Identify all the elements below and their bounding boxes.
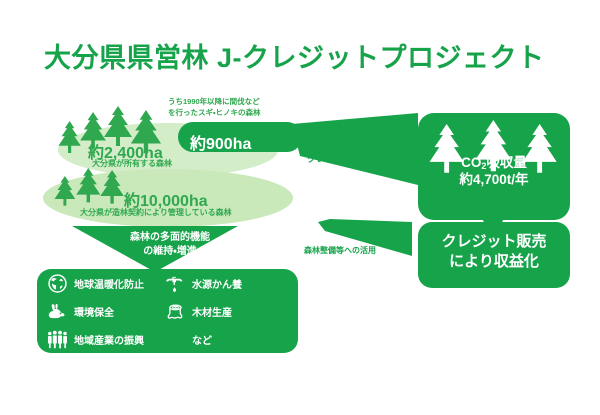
benefits-panel: 地球温暖化防止 水源かん養 環境保全 — [37, 269, 298, 353]
people-group-icon — [47, 329, 68, 350]
multifunction-arrow-caption: 森林の多面的機能 の維持・増進 — [105, 231, 235, 259]
benefit-label: 地域産業の振興 — [74, 332, 144, 347]
benefit-label: 木材生産 — [192, 304, 232, 319]
benefit-item-water-source: 水源かん養 — [155, 273, 298, 294]
certified-callout-line1: うち1990年以降に間伐など — [168, 97, 261, 108]
certified-forest-callout: うち1990年以降に間伐など を行ったスギ・ヒノキの森林 — [168, 97, 261, 119]
co2-box-text: CO2吸収量 約4,700t/年 — [420, 155, 568, 189]
managed-forest-description: 大分県が造林契約により管理している森林 — [80, 207, 232, 218]
globe-icon — [47, 273, 68, 294]
benefit-item-global-warming: 地球温暖化防止 — [37, 273, 155, 294]
tree-cluster-lower — [55, 168, 124, 206]
benefit-label: 環境保全 — [74, 304, 114, 319]
sales-line1: クレジット販売 — [420, 232, 568, 252]
certified-callout-line2: を行ったスギ・ヒノキの森林 — [168, 108, 261, 119]
faucet-icon — [165, 273, 186, 294]
benefit-item-etc: など — [155, 332, 298, 347]
benefit-item-local-industry: 地域産業の振興 — [37, 329, 155, 350]
sales-box-text: クレジット販売 により収益化 — [420, 232, 568, 271]
certification-arrow — [292, 113, 418, 185]
multifunction-line1: 森林の多面的機能 — [105, 231, 235, 245]
benefit-label: 地球温暖化防止 — [74, 276, 144, 291]
utilization-label: 森林整備等への活用 — [304, 245, 376, 256]
certified-forest-amount: 約900ha — [190, 130, 251, 154]
co2-absorption-label: CO2吸収量 — [420, 155, 568, 172]
multifunction-line2: の維持・増進 — [105, 245, 235, 259]
certification-label: クレジット認証 — [307, 152, 370, 165]
benefit-item-timber: 木材生産 — [155, 301, 298, 322]
sales-line2: により収益化 — [420, 252, 568, 272]
co2-absorption-value: 約4,700t/年 — [420, 172, 568, 189]
owned-forest-description: 大分県が所有する森林 — [92, 158, 172, 169]
infographic-canvas: 大分県県営林 J-クレジットプロジェクト — [0, 0, 600, 415]
benefit-label: 水源かん養 — [192, 276, 242, 291]
tree-stump-icon — [165, 301, 186, 322]
benefit-label: など — [192, 332, 212, 347]
rabbit-icon — [47, 301, 68, 322]
benefit-item-environment: 環境保全 — [37, 301, 155, 322]
